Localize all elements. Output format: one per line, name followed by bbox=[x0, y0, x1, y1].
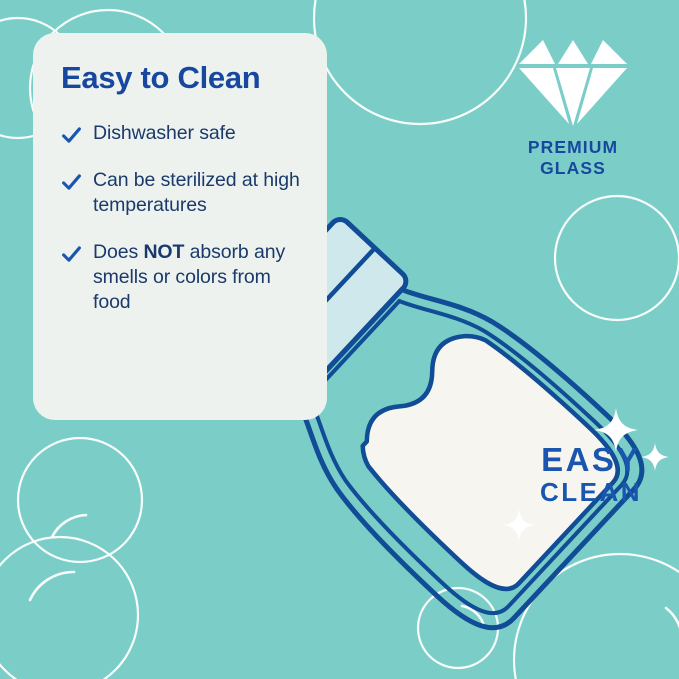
premium-label: PREMIUM GLASS bbox=[498, 137, 648, 178]
feature-item-no-absorb: Does NOT absorb any smells or colors fro… bbox=[61, 240, 301, 315]
wordmark-line-clean: CLEAN bbox=[516, 476, 666, 509]
feature-text: Does NOT absorb any smells or colors fro… bbox=[93, 240, 301, 315]
premium-glass-badge: PREMIUM GLASS bbox=[498, 36, 648, 178]
feature-text: Dishwasher safe bbox=[93, 121, 236, 146]
feature-list: Dishwasher safe Can be sterilized at hig… bbox=[61, 121, 301, 315]
easy-clean-wordmark: EASY CLEAN bbox=[516, 443, 666, 509]
premium-label-line1: PREMIUM bbox=[498, 137, 648, 158]
feature-text-main: Can be sterilized at high temperatures bbox=[93, 169, 300, 216]
check-icon bbox=[61, 172, 82, 193]
feature-text-prefix: Does bbox=[93, 241, 143, 263]
premium-label-line2: GLASS bbox=[498, 158, 648, 179]
feature-item-dishwasher: Dishwasher safe bbox=[61, 121, 301, 146]
check-icon bbox=[61, 125, 82, 146]
promo-graphic: Easy to Clean Dishwasher safe Can be ste… bbox=[0, 0, 679, 679]
diamond-icon bbox=[517, 36, 629, 128]
feature-card: Easy to Clean Dishwasher safe Can be ste… bbox=[33, 33, 327, 420]
feature-item-sterilize: Can be sterilized at high temperatures bbox=[61, 168, 301, 218]
feature-text-main: Dishwasher safe bbox=[93, 122, 236, 144]
card-title: Easy to Clean bbox=[61, 61, 301, 95]
check-icon bbox=[61, 244, 82, 265]
feature-text-emphasis: NOT bbox=[143, 241, 184, 263]
wordmark-line-easy: EASY bbox=[516, 443, 666, 476]
feature-text: Can be sterilized at high temperatures bbox=[93, 168, 301, 218]
